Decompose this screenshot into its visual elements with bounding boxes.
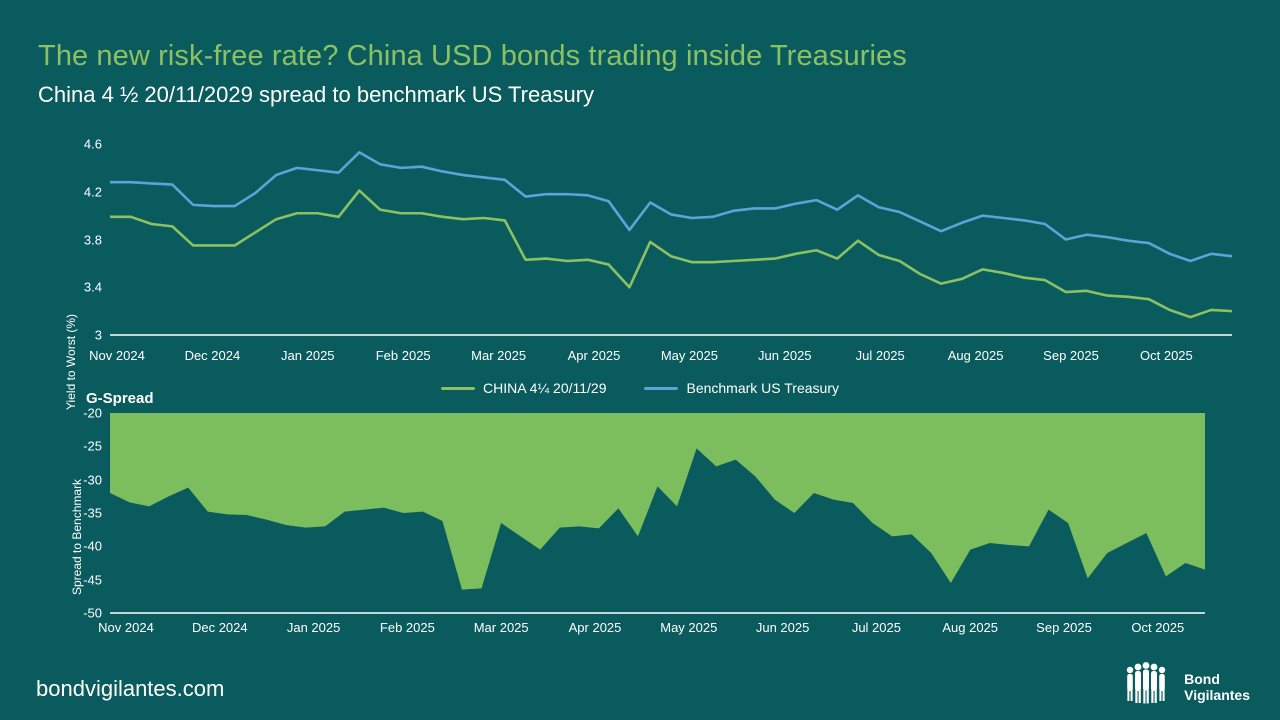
x-tick-label: Dec 2024 — [192, 620, 248, 635]
people-group-icon — [1124, 662, 1176, 711]
logo-text: Bond Vigilantes — [1184, 671, 1250, 703]
gspread-chart-plot-area — [110, 413, 1205, 613]
bond-vigilantes-logo: Bond Vigilantes — [1124, 662, 1250, 711]
y-tick-label: -50 — [58, 606, 102, 621]
y-tick-label: 3.8 — [58, 232, 102, 247]
x-tick-label: Feb 2025 — [380, 620, 435, 635]
x-tick-label: Aug 2025 — [948, 348, 1004, 363]
x-tick-label: Oct 2025 — [1131, 620, 1184, 635]
chart-legend: CHINA 4¼ 20/11/29Benchmark US Treasury — [0, 380, 1280, 396]
header: The new risk-free rate? China USD bonds … — [38, 38, 1238, 110]
x-tick-label: Sep 2025 — [1036, 620, 1092, 635]
area-series-0 — [110, 413, 1205, 590]
y-tick-label: -25 — [58, 439, 102, 454]
x-tick-label: Jun 2025 — [758, 348, 812, 363]
y-tick-label: 4.6 — [58, 137, 102, 152]
yield-chart-x-tick-labels: Nov 2024Dec 2024Jan 2025Feb 2025Mar 2025… — [0, 348, 1280, 368]
x-tick-label: Jan 2025 — [281, 348, 335, 363]
y-tick-label: 4.2 — [58, 184, 102, 199]
x-tick-label: Mar 2025 — [471, 348, 526, 363]
x-tick-label: Oct 2025 — [1140, 348, 1193, 363]
y-tick-label: 3.4 — [58, 280, 102, 295]
x-tick-label: Aug 2025 — [942, 620, 998, 635]
y-tick-label: -45 — [58, 572, 102, 587]
logo-line-2: Vigilantes — [1184, 687, 1250, 703]
y-tick-label: 3 — [58, 328, 102, 343]
gspread-chart: Spread to Benchmark -50-45-40-35-30-25-2… — [0, 405, 1280, 645]
x-tick-label: Apr 2025 — [568, 348, 621, 363]
page-title: The new risk-free rate? China USD bonds … — [38, 38, 1238, 74]
yield-chart-plot-area — [110, 144, 1232, 335]
line-series-1 — [110, 152, 1232, 261]
legend-item[interactable]: CHINA 4¼ 20/11/29 — [441, 380, 606, 396]
x-tick-label: Mar 2025 — [474, 620, 529, 635]
gspread-chart-x-tick-labels: Nov 2024Dec 2024Jan 2025Feb 2025Mar 2025… — [0, 620, 1280, 640]
x-tick-label: Jul 2025 — [856, 348, 905, 363]
y-tick-label: -30 — [58, 472, 102, 487]
x-tick-label: Dec 2024 — [185, 348, 241, 363]
x-tick-label: Jan 2025 — [287, 620, 341, 635]
legend-swatch-icon — [441, 387, 475, 390]
x-tick-label: Feb 2025 — [376, 348, 431, 363]
y-tick-label: -40 — [58, 539, 102, 554]
y-tick-label: -35 — [58, 506, 102, 521]
logo-line-1: Bond — [1184, 671, 1220, 687]
legend-item[interactable]: Benchmark US Treasury — [644, 380, 839, 396]
x-tick-label: Jul 2025 — [852, 620, 901, 635]
x-tick-label: Sep 2025 — [1043, 348, 1099, 363]
slide-canvas: The new risk-free rate? China USD bonds … — [0, 0, 1280, 720]
legend-label: Benchmark US Treasury — [686, 380, 839, 396]
x-tick-label: Apr 2025 — [569, 620, 622, 635]
x-tick-label: May 2025 — [660, 620, 717, 635]
x-tick-label: Nov 2024 — [98, 620, 154, 635]
line-series-0 — [110, 191, 1232, 318]
legend-label: CHINA 4¼ 20/11/29 — [483, 380, 606, 396]
x-tick-label: May 2025 — [661, 348, 718, 363]
x-tick-label: Jun 2025 — [756, 620, 810, 635]
yield-to-worst-chart: Yield to Worst (%) 33.43.84.24.6 Nov 202… — [0, 130, 1280, 370]
footer-website-url[interactable]: bondvigilantes.com — [36, 676, 224, 702]
x-tick-label: Nov 2024 — [89, 348, 145, 363]
y-tick-label: -20 — [58, 406, 102, 421]
page-subtitle: China 4 ½ 20/11/2029 spread to benchmark… — [38, 80, 1238, 110]
legend-swatch-icon — [644, 387, 678, 390]
